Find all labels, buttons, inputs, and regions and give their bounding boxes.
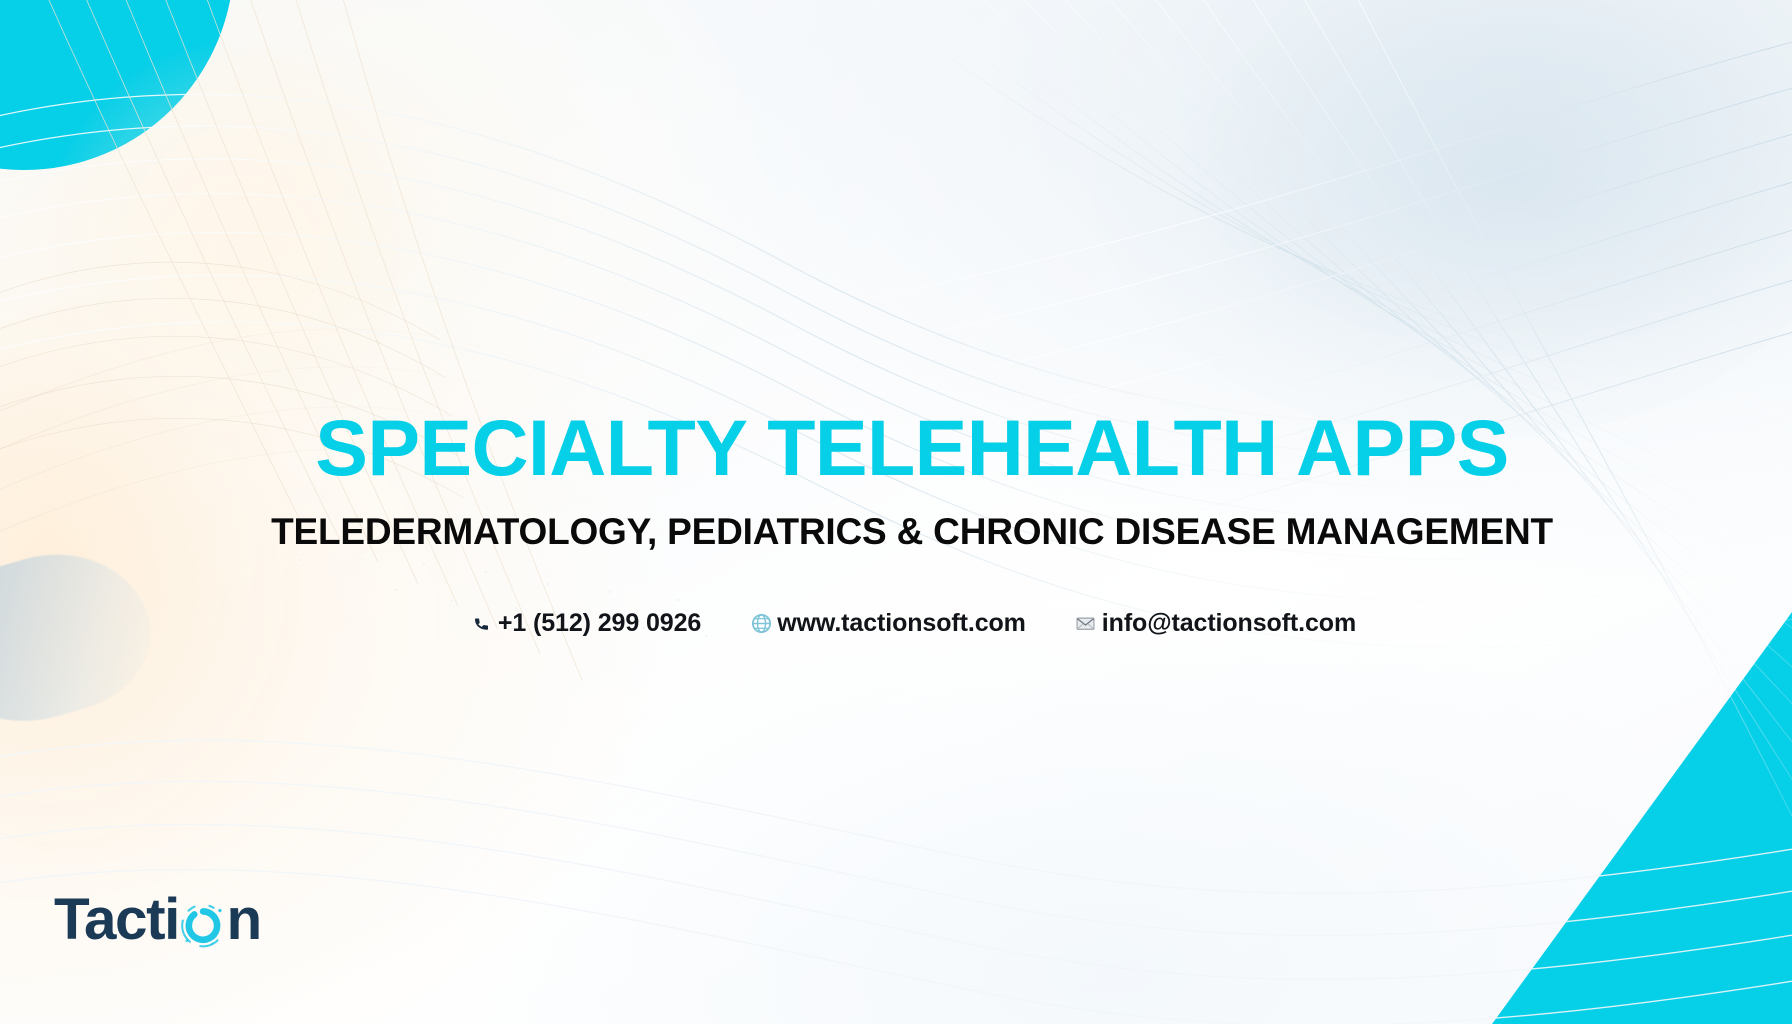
contact-email[interactable]: info@tactionsoft.com	[1072, 609, 1356, 638]
taction-logo[interactable]: Tacti n	[54, 886, 290, 952]
contact-phone-label: +1 (512) 299 0926	[498, 609, 701, 638]
logo-ring-mark	[174, 896, 232, 952]
logo-text-before: Tacti	[54, 887, 179, 952]
telehealth-banner: SPECIALTY TELEHEALTH APPS TELEDERMATOLOG…	[0, 0, 1792, 1024]
page-subtitle: TELEDERMATOLOGY, PEDIATRICS & CHRONIC DI…	[32, 511, 1792, 553]
mail-icon	[1072, 610, 1100, 638]
contact-phone[interactable]: +1 (512) 299 0926	[468, 609, 701, 638]
logo-text-after: n	[227, 887, 261, 952]
contact-email-label: info@tactionsoft.com	[1102, 609, 1356, 638]
phone-icon	[468, 610, 496, 638]
page-title: SPECIALTY TELEHEALTH APPS	[32, 408, 1792, 487]
top-left-quarter-circle-accent	[0, 0, 234, 170]
contact-row: +1 (512) 299 0926 www.tactionsoft.com	[32, 609, 1792, 638]
bottom-right-triangle-accent	[1492, 612, 1792, 1024]
contact-website[interactable]: www.tactionsoft.com	[747, 609, 1026, 638]
cool-gradient-blob	[1092, 0, 1792, 440]
globe-icon	[747, 610, 775, 638]
contact-website-label: www.tactionsoft.com	[777, 609, 1026, 638]
banner-content: SPECIALTY TELEHEALTH APPS TELEDERMATOLOG…	[0, 408, 1792, 638]
